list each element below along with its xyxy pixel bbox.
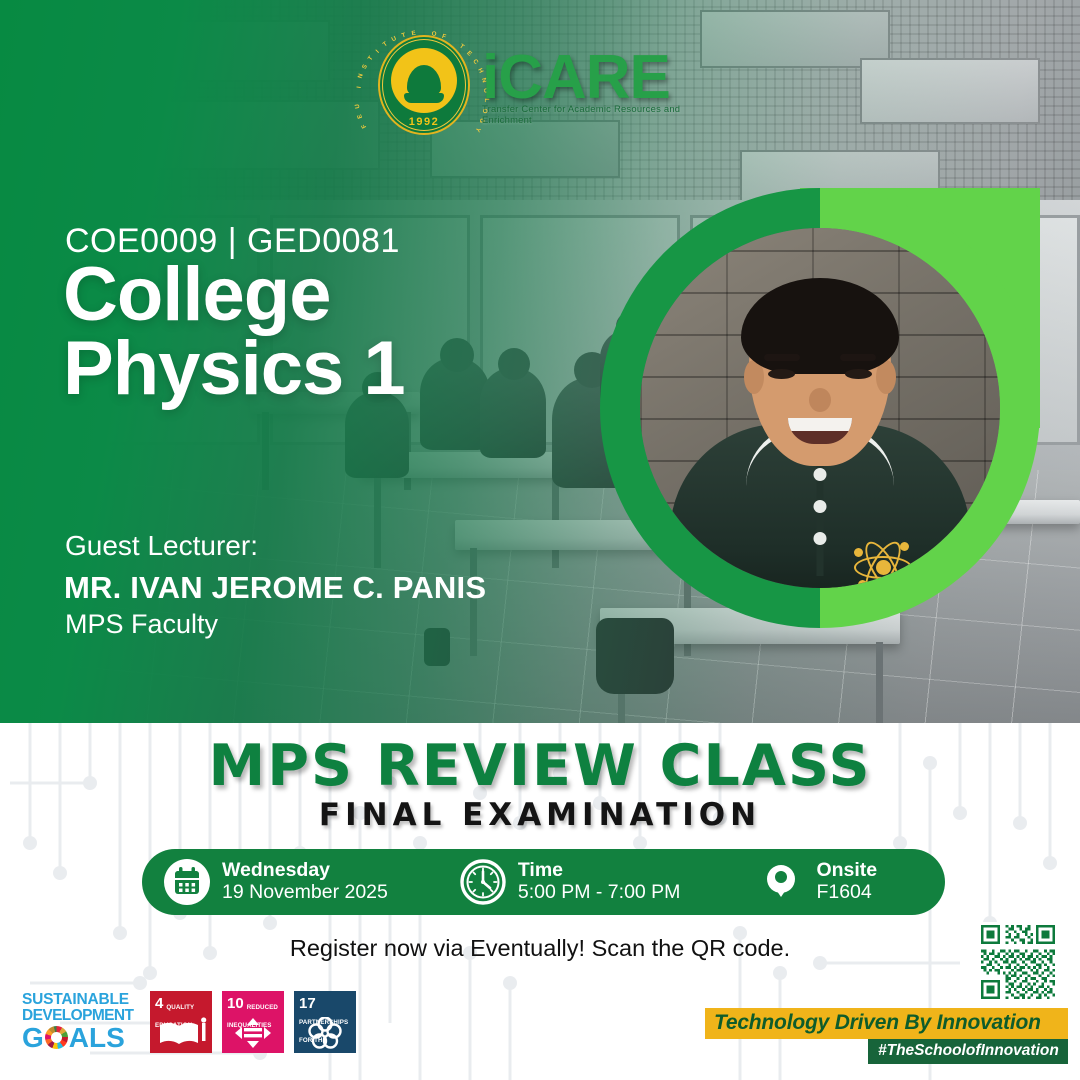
detail-location-value: F1604 xyxy=(816,882,877,904)
book-icon xyxy=(404,93,444,103)
sdg-word-g: G xyxy=(22,1024,44,1053)
sdg-goal-10-number: 10 xyxy=(227,996,244,1011)
event-headline: MPS REVIEW CLASS xyxy=(0,733,1080,799)
sdg-goal-4: 4 QUALITY EDUCATION xyxy=(150,991,212,1053)
detail-date-title: Wednesday xyxy=(222,860,388,882)
brand-logo-bar: FEU INSTITUTE OF TECHNOLOGY 1992 iCARE T… xyxy=(378,30,698,140)
sdg-word-als: ALS xyxy=(69,1024,125,1053)
guest-lecturer-label: Guest Lecturer: xyxy=(65,530,258,562)
open-book-icon xyxy=(150,1017,212,1049)
tagline-hashtag: #TheSchoolofInnovation xyxy=(868,1039,1068,1064)
sdg-word-line1: SUSTAINABLE xyxy=(22,992,140,1008)
event-subheadline: FINAL EXAMINATION xyxy=(0,797,1080,833)
guest-lecturer-role: MPS Faculty xyxy=(65,609,218,640)
sdg-word-line3: G ALS xyxy=(22,1024,140,1053)
detail-time: Time 5:00 PM - 7:00 PM xyxy=(460,859,681,905)
event-details-bar: Wednesday 19 November 2025 xyxy=(142,849,945,915)
hero-section: FEU INSTITUTE OF TECHNOLOGY 1992 iCARE T… xyxy=(0,0,1080,723)
register-instruction: Register now via Eventually! Scan the QR… xyxy=(0,935,1080,962)
sdg-goal-4-number: 4 xyxy=(155,996,163,1011)
location-pin-icon xyxy=(758,859,804,905)
detail-location: Onsite F1604 xyxy=(758,859,877,905)
seal-year: 1992 xyxy=(378,116,470,128)
calendar-icon xyxy=(164,859,210,905)
atom-emblem-icon xyxy=(852,536,914,588)
detail-location-title: Onsite xyxy=(816,860,877,882)
sdg-wordmark: SUSTAINABLE DEVELOPMENT G ALS xyxy=(22,992,140,1052)
course-title-line2: Physics 1 xyxy=(63,332,405,406)
detail-date-value: 19 November 2025 xyxy=(222,882,388,904)
detail-time-value: 5:00 PM - 7:00 PM xyxy=(518,882,681,904)
poster: FEU INSTITUTE OF TECHNOLOGY 1992 iCARE T… xyxy=(0,0,1080,1080)
sdg-wheel-icon xyxy=(45,1026,68,1049)
institution-tagline: Technology Driven By Innovation #TheScho… xyxy=(705,1008,1068,1064)
guest-lecturer-name: MR. IVAN JEROME C. PANIS xyxy=(64,570,486,606)
portrait-photo xyxy=(640,228,1000,588)
course-title-line1: College xyxy=(63,258,405,332)
sdg-goal-17: 17 PARTNERSHIPS FOR THE GOALS xyxy=(294,991,356,1053)
qr-code[interactable] xyxy=(978,922,1058,1002)
feu-seal-logo: FEU INSTITUTE OF TECHNOLOGY 1992 xyxy=(378,35,470,135)
clock-icon xyxy=(460,859,506,905)
detail-time-title: Time xyxy=(518,860,681,882)
sdg-goal-10: 10 REDUCED INEQUALITIES xyxy=(222,991,284,1053)
interlocked-circles-icon xyxy=(294,1017,356,1049)
sdg-logo-group: SUSTAINABLE DEVELOPMENT G ALS 4 QUALITY … xyxy=(22,991,356,1053)
speaker-portrait-block xyxy=(600,188,1040,648)
icare-subtitle: Transfer Center for Academic Resources a… xyxy=(482,103,698,125)
sdg-goal-17-number: 17 xyxy=(299,996,316,1011)
footer-section: MPS REVIEW CLASS FINAL EXAMINATION xyxy=(0,723,1080,1080)
icare-wordmark: iCARE xyxy=(482,49,698,108)
equals-arrows-icon xyxy=(222,1017,284,1049)
detail-date: Wednesday 19 November 2025 xyxy=(164,859,388,905)
course-title: College Physics 1 xyxy=(63,258,405,407)
tagline-primary: Technology Driven By Innovation xyxy=(705,1008,1068,1039)
